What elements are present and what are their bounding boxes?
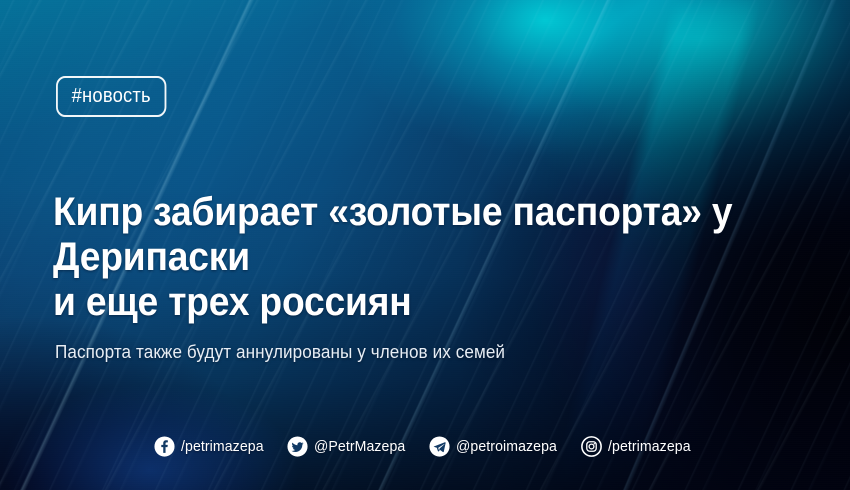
twitter-icon [287, 436, 308, 457]
card-content: #новость Кипр забирает «золотые паспорта… [0, 0, 850, 490]
social-link-facebook[interactable]: /petrimazepa [154, 436, 269, 457]
headline-line-1: Кипр забирает «золотые паспорта» у Дерип… [53, 190, 760, 280]
news-card: #новость Кипр забирает «золотые паспорта… [0, 0, 850, 490]
facebook-icon [154, 436, 175, 457]
instagram-icon [581, 436, 602, 457]
page-title: Кипр забирает «золотые паспорта» у Дерип… [53, 190, 760, 326]
headline-line-2: и еще трех россиян [53, 280, 760, 325]
social-link-telegram[interactable]: @petroimazepa [429, 436, 563, 457]
category-tag-badge[interactable]: #новость [56, 76, 166, 117]
social-link-twitter[interactable]: @PetrMazepa [287, 436, 411, 457]
social-handle-facebook: /petrimazepa [181, 439, 264, 454]
social-handle-telegram: @petroimazepa [456, 439, 557, 454]
social-link-instagram[interactable]: /petrimazepa [581, 436, 696, 457]
social-handle-instagram: /petrimazepa [608, 439, 691, 454]
social-handle-twitter: @PetrMazepa [314, 439, 405, 454]
subtitle-text: Паспорта также будут аннулированы у член… [55, 341, 505, 364]
telegram-icon [429, 436, 450, 457]
social-links-bar: /petrimazepa @PetrMazepa [0, 436, 850, 457]
